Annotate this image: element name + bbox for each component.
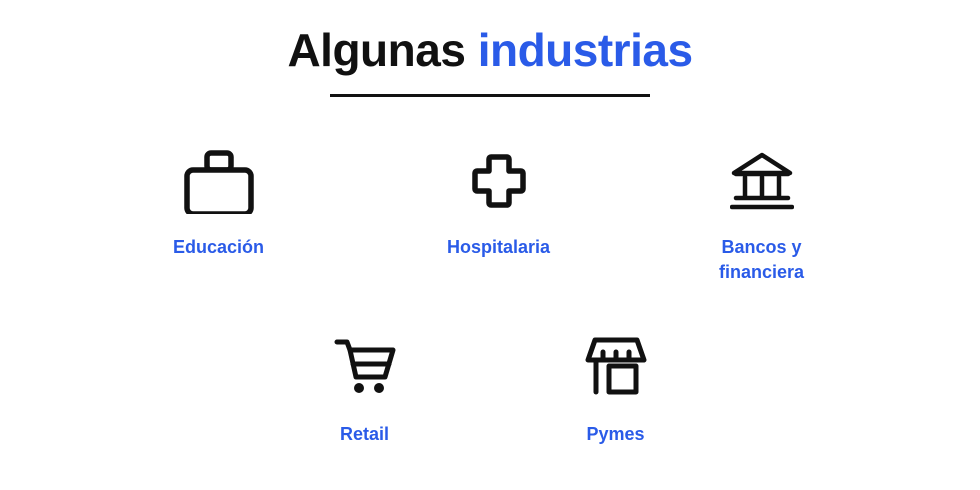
industry-row-bottom: Retail Pymes bbox=[0, 330, 980, 447]
industry-label: Educación bbox=[173, 235, 264, 260]
title-underline-rule bbox=[330, 94, 650, 97]
industry-row-top: Educación Hospitalaria bbox=[0, 145, 980, 285]
shopping-cart-icon bbox=[334, 330, 396, 402]
medical-cross-icon bbox=[471, 145, 527, 217]
page-title-block: Algunas industrias bbox=[0, 22, 980, 97]
page-title: Algunas industrias bbox=[0, 22, 980, 78]
industry-item-hospitalaria[interactable]: Hospitalaria bbox=[414, 145, 584, 285]
industry-item-bancos[interactable]: Bancos y financiera bbox=[677, 145, 847, 285]
page-title-primary: Algunas bbox=[287, 24, 477, 76]
industry-label: Hospitalaria bbox=[447, 235, 550, 260]
slide-canvas: Algunas industrias Educación Hospitalari… bbox=[0, 0, 980, 490]
briefcase-icon bbox=[182, 145, 256, 217]
industry-item-educacion[interactable]: Educación bbox=[134, 145, 304, 285]
industry-label: Bancos y financiera bbox=[719, 235, 804, 285]
industry-item-pymes[interactable]: Pymes bbox=[531, 330, 701, 447]
industry-item-retail[interactable]: Retail bbox=[280, 330, 450, 447]
storefront-icon bbox=[585, 330, 647, 402]
page-title-accent: industrias bbox=[478, 24, 693, 76]
industry-label: Retail bbox=[340, 422, 389, 447]
bank-icon bbox=[730, 145, 794, 217]
industry-label: Pymes bbox=[586, 422, 644, 447]
